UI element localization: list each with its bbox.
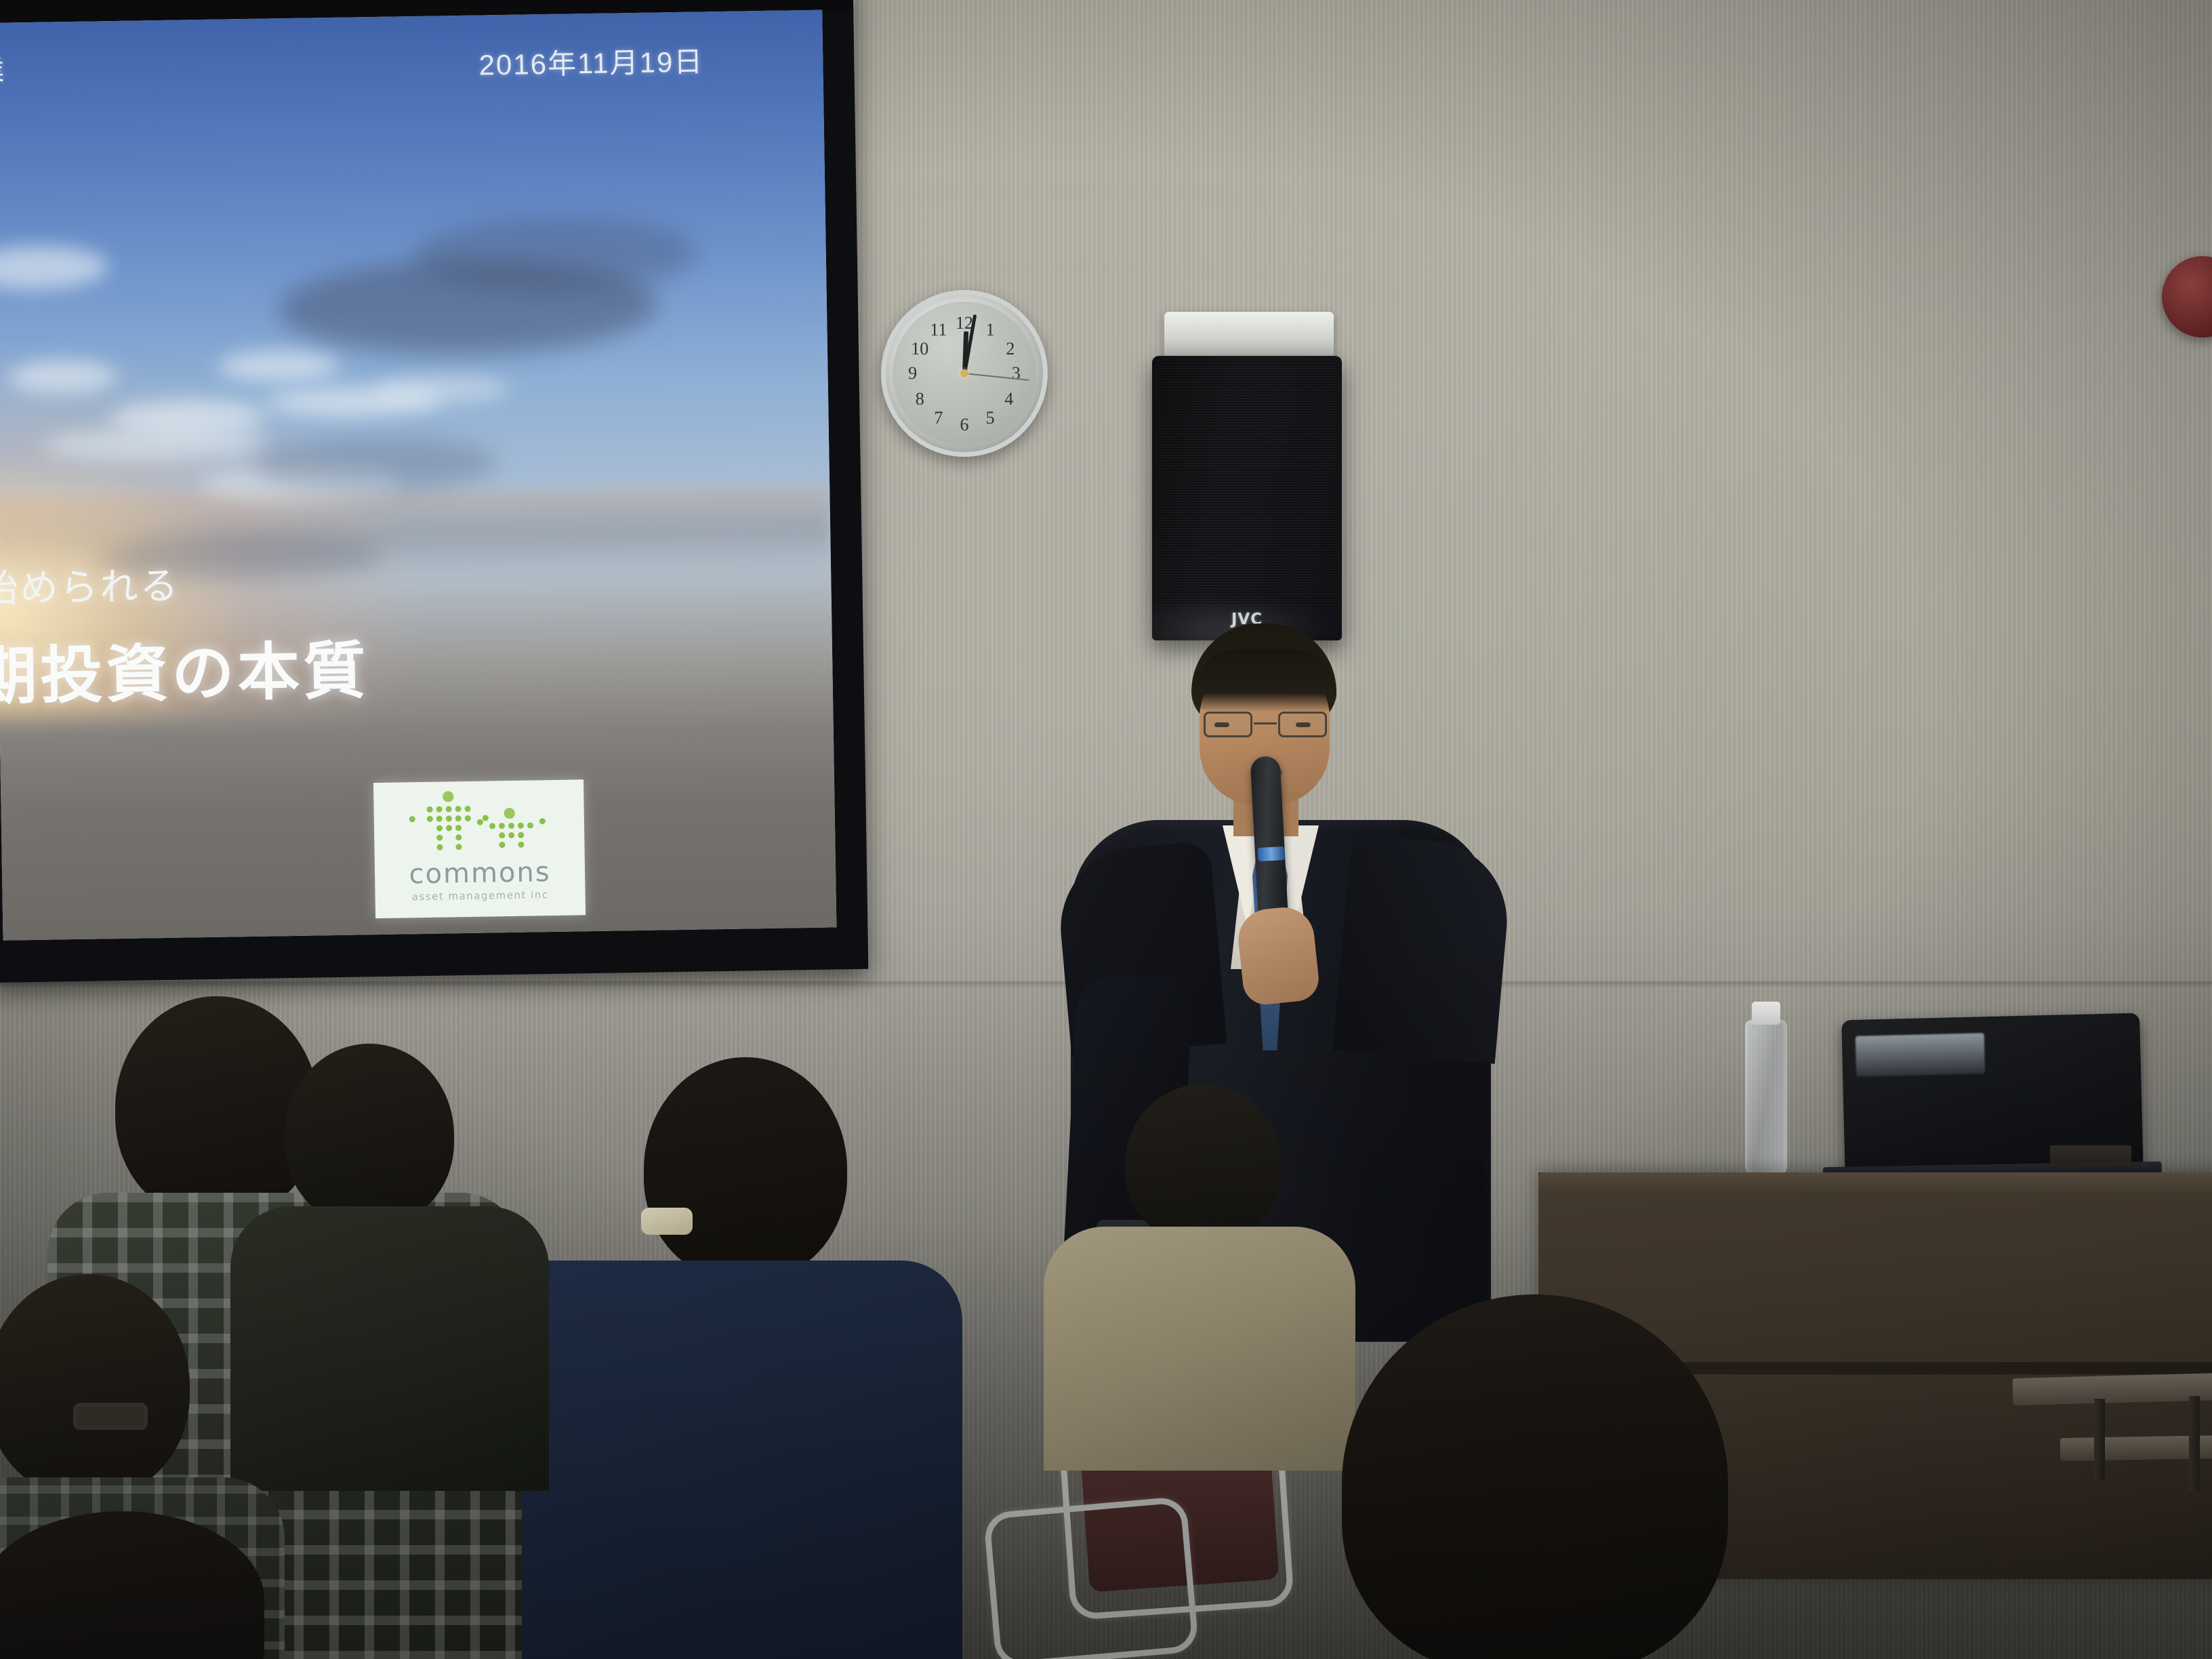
microphone-indicator-band (1258, 846, 1286, 861)
clock-numeral: 4 (1004, 389, 1013, 409)
hair-clip (641, 1208, 693, 1235)
slide-top-left-text: 業 (0, 49, 5, 89)
audience-head (1342, 1294, 1728, 1659)
audience-body (488, 1261, 962, 1659)
wall-clock: 12 1 2 3 4 5 6 7 8 9 10 11 (881, 290, 1048, 457)
clock-center-pin (960, 369, 968, 377)
clock-numeral: 8 (916, 389, 924, 409)
presenter-hand (1235, 905, 1321, 1007)
audience-body (230, 1206, 549, 1491)
clock-numeral: 7 (934, 408, 943, 428)
logo-wordmark: commons (409, 859, 551, 888)
audience-member (0, 1511, 264, 1659)
screen-surface: 業 2016年11月19日 始められる 期投資の本質 (0, 10, 836, 941)
audience-head (0, 1274, 190, 1498)
speaker-bracket (1164, 312, 1334, 359)
audience-member (1267, 1294, 1809, 1659)
chair (983, 1496, 1200, 1659)
speaker-grill (1158, 361, 1336, 605)
clock-numeral: 3 (1012, 363, 1021, 384)
podium-top-surface (1538, 1172, 2212, 1193)
clock-numeral: 2 (1006, 339, 1015, 359)
logo-figures-icon (401, 790, 557, 857)
clock-numeral: 11 (930, 320, 947, 340)
table-leg (2094, 1399, 2105, 1480)
presenter-glasses-icon (1204, 712, 1327, 739)
logo-tagline: asset management inc (412, 888, 549, 903)
audience-member (244, 1044, 529, 1477)
bottle-cap (1752, 1002, 1780, 1025)
slide-date: 2016年11月19日 (478, 39, 704, 83)
audience-head (644, 1057, 847, 1281)
audience-head (0, 1511, 264, 1659)
slide-headline-line2: 期投資の本質 (0, 620, 369, 716)
projection-screen: 業 2016年11月19日 始められる 期投資の本質 (0, 0, 868, 983)
commons-logo: commons asset management inc (373, 779, 586, 918)
side-table (2013, 1373, 2212, 1406)
clock-numeral: 10 (911, 339, 928, 359)
slide-headline-line1: 始められる (0, 556, 180, 614)
presenter-hair-front (1193, 649, 1336, 712)
table-leg (2189, 1396, 2200, 1491)
podium-paper (2050, 1145, 2131, 1166)
clock-numeral: 9 (908, 363, 917, 384)
photograph-scene: 業 2016年11月19日 始められる 期投資の本質 (0, 0, 2212, 1659)
audience-head (285, 1044, 454, 1227)
audience-member (515, 1057, 935, 1659)
laptop-screen-glow (1856, 1033, 1985, 1077)
clock-face: 12 1 2 3 4 5 6 7 8 9 10 11 (893, 302, 1036, 445)
water-bottle (1745, 1020, 1787, 1176)
eyeglasses-icon (73, 1403, 148, 1430)
clock-numeral: 5 (986, 408, 995, 428)
audience-head (1125, 1084, 1281, 1244)
presenter-shoulder-right (1333, 834, 1514, 1064)
presentation-slide: 業 2016年11月19日 始められる 期投資の本質 (0, 10, 836, 941)
audio-speaker: JVC (1152, 356, 1342, 640)
clock-numeral: 1 (986, 320, 995, 340)
clock-numeral: 6 (960, 415, 969, 435)
